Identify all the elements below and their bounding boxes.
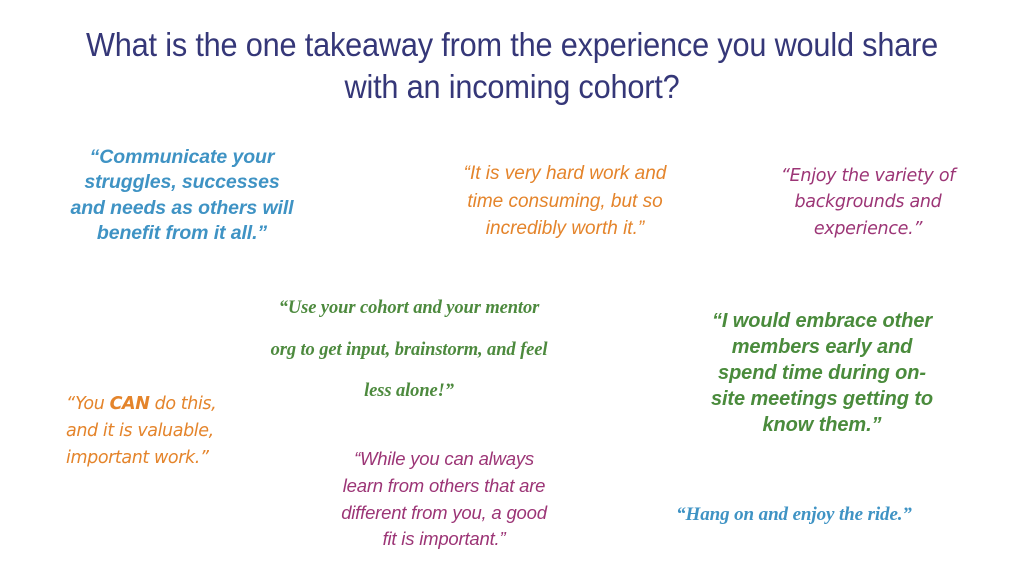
- quote-communicate: “Communicate your struggles, successes a…: [22, 145, 342, 246]
- quote-you-can-emphasis: CAN: [110, 394, 150, 414]
- page-title: What is the one takeaway from the experi…: [84, 24, 940, 108]
- quote-enjoy-variety: “Enjoy the variety of backgrounds and ex…: [748, 163, 988, 242]
- quote-hang-on: “Hang on and enjoy the ride.”: [648, 503, 940, 528]
- quote-you-can: “You CAN do this, and it is valuable, im…: [66, 391, 296, 472]
- quote-embrace-members: “I would embrace other members early and…: [672, 308, 972, 438]
- quote-while-learn: “While you can always learn from others …: [310, 446, 578, 553]
- quote-use-cohort: “Use your cohort and your mentor org to …: [248, 288, 570, 413]
- quote-you-can-lead: “You: [66, 394, 110, 414]
- slide-canvas: What is the one takeaway from the experi…: [0, 0, 1024, 582]
- quote-hard-work: “It is very hard work and time consuming…: [430, 160, 700, 243]
